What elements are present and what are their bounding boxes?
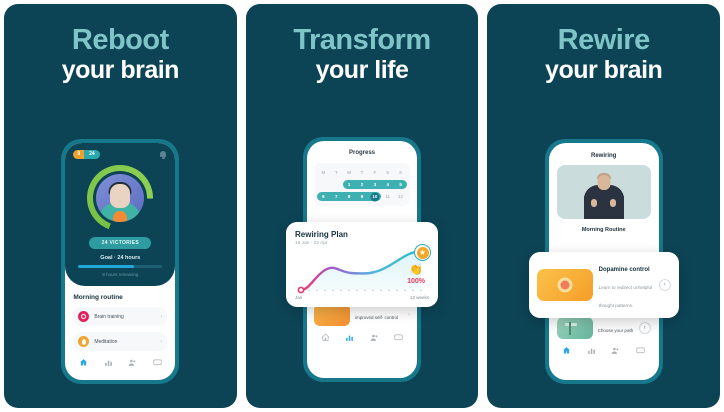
calendar-day[interactable]: 12 (394, 192, 407, 201)
lesson-thumbnail (314, 304, 350, 326)
calendar-day[interactable]: 11 (381, 192, 394, 201)
rewiring-plan-subtitle: 15 Jan - 22 Apr (295, 241, 429, 246)
hero-section: 9 24 (65, 143, 175, 286)
section-title: Morning routine (73, 294, 167, 301)
victories-badge[interactable]: 24 VICTORIES (89, 237, 151, 249)
goal-progress-fill (78, 265, 133, 268)
calendar-day-empty (317, 180, 330, 189)
calendar-week-2: 6 7 8 9 10 11 12 (317, 192, 407, 201)
tab-bar (549, 339, 659, 363)
calendar-day-today[interactable]: 10 (368, 192, 381, 201)
calendar-day[interactable]: 6 (317, 192, 330, 201)
stats-icon[interactable] (344, 333, 355, 342)
headline-2: Transform your life (246, 24, 479, 84)
lesson-text: Choose your path (598, 319, 634, 337)
home-icon[interactable] (561, 346, 572, 355)
lesson-text: improved self- control (355, 306, 403, 324)
screenshot-gallery: Reboot your brain 9 24 (0, 0, 724, 412)
calendar-day[interactable]: 8 (343, 192, 356, 201)
screen-title: Rewiring (549, 143, 659, 165)
chevron-right-icon: › (160, 314, 162, 320)
calendar: M T W T F S S 1 2 3 (314, 163, 410, 206)
goal-progress-bar (78, 265, 162, 268)
dopamine-text: Dopamine control Learn to redirect unhel… (599, 258, 653, 312)
video-hand-left (591, 199, 597, 207)
streak-badge-left: 9 (73, 150, 84, 159)
routine-section: Morning routine Brain training › Meditat… (65, 286, 175, 351)
status-row: 9 24 (73, 150, 167, 159)
clap-emoji-icon: 👏 (409, 263, 423, 276)
bell-icon[interactable] (159, 150, 167, 159)
percent-label: 100% (407, 278, 425, 285)
calendar-day-today-label: 10 (372, 194, 377, 199)
calendar-streak-segment[interactable]: 1 2 3 4 5 (343, 180, 407, 189)
list-item[interactable]: Brain training › (73, 307, 167, 326)
weekday-label: T (356, 168, 369, 177)
lesson-title: Choose your path (598, 328, 634, 333)
instructor-video[interactable] (557, 165, 651, 219)
headline-line2: your brain (4, 56, 237, 84)
weekday-label: W (343, 168, 356, 177)
avatar-collar (113, 211, 127, 222)
streak-badge-right: 24 (84, 150, 100, 159)
headline-1: Reboot your brain (4, 24, 237, 84)
phone-mockup-1: 9 24 (61, 139, 179, 384)
streak-badge[interactable]: 9 24 (73, 150, 99, 159)
home-icon[interactable] (320, 333, 331, 342)
axis-start-label: Jan (295, 295, 302, 300)
chevron-right-icon[interactable]: › (659, 279, 671, 291)
calendar-day[interactable]: 4 (381, 180, 394, 189)
chart-axis-labels: Jan 12 weeks (295, 295, 429, 300)
section-title: Morning Routine (549, 219, 659, 235)
lesson-card[interactable]: improved self- control › (314, 304, 410, 326)
lesson-card[interactable]: Choose your path › (557, 317, 651, 339)
axis-end-label: 12 weeks (410, 295, 429, 300)
remaining-text: 8 hours remaining (73, 272, 167, 277)
weekday-label: T (330, 168, 343, 177)
meditation-icon (78, 336, 89, 347)
phone-screen-1: 9 24 (65, 143, 175, 380)
calendar-day-empty (330, 180, 343, 189)
calendar-day[interactable]: 3 (368, 180, 381, 189)
list-item-label: Meditation (94, 339, 155, 345)
calendar-day[interactable]: 9 (356, 192, 369, 201)
goal-text: Goal · 24 hours (73, 255, 167, 261)
dopamine-title: Dopamine control (599, 267, 650, 273)
chevron-right-icon[interactable]: › (408, 312, 410, 318)
star-badge-icon: ★ (414, 244, 431, 261)
panel-reboot: Reboot your brain 9 24 (4, 4, 237, 408)
chevron-right-icon[interactable]: › (639, 322, 651, 334)
rewiring-plan-title: Rewiring Plan (295, 230, 429, 239)
calendar-day[interactable]: 5 (394, 180, 407, 189)
panel-rewire: Rewire your brain Rewiring Morning Routi… (487, 4, 720, 408)
brain-icon (78, 311, 89, 322)
rewiring-progress-chart: ★ 👏 100% (295, 248, 429, 294)
headline-line2: your life (246, 56, 479, 84)
headline-line2: your brain (487, 56, 720, 84)
avatar (96, 174, 144, 222)
panel-transform: Transform your life Progress M T W T F S… (246, 4, 479, 408)
chat-icon[interactable] (152, 358, 163, 367)
chat-icon[interactable] (635, 346, 646, 355)
screen-title: Progress (307, 141, 417, 163)
headline-line1: Rewire (487, 24, 720, 56)
chat-icon[interactable] (393, 333, 404, 342)
lesson-title: improved self- control (355, 315, 398, 320)
video-hand-right (610, 199, 616, 207)
dopamine-thumbnail (537, 269, 593, 301)
weekday-label: F (368, 168, 381, 177)
community-icon[interactable] (369, 333, 380, 342)
community-icon[interactable] (127, 358, 138, 367)
video-body (584, 185, 624, 219)
list-item-label: Brain training (94, 314, 155, 320)
calendar-streak-segment[interactable]: 6 7 8 9 10 (317, 192, 381, 201)
dopamine-description: Learn to redirect unhelpful thought patt… (599, 285, 652, 308)
video-head (597, 175, 610, 190)
calendar-day[interactable]: 1 (343, 180, 356, 189)
weekday-label: S (394, 168, 407, 177)
calendar-weekday-row: M T W T F S S (317, 168, 407, 177)
progress-ring (87, 165, 153, 231)
headline-3: Rewire your brain (487, 24, 720, 84)
calendar-week-1: 1 2 3 4 5 (317, 180, 407, 189)
stats-icon[interactable] (103, 358, 114, 367)
rewiring-plan-card[interactable]: Rewiring Plan 15 Jan - 22 Apr (286, 222, 438, 307)
weekday-label: M (317, 168, 330, 177)
calendar-day[interactable]: 2 (356, 180, 369, 189)
headline-line1: Reboot (4, 24, 237, 56)
tab-bar (307, 326, 417, 350)
star-glyph: ★ (417, 247, 429, 259)
dopamine-control-card[interactable]: Dopamine control Learn to redirect unhel… (529, 252, 679, 318)
chevron-right-icon: › (160, 339, 162, 345)
calendar-day[interactable]: 7 (330, 192, 343, 201)
tab-bar (65, 351, 175, 375)
headline-line1: Transform (246, 24, 479, 56)
weekday-label: S (381, 168, 394, 177)
home-icon[interactable] (78, 358, 89, 367)
list-item[interactable]: Meditation › (73, 332, 167, 351)
lesson-thumbnail (557, 317, 593, 339)
stats-icon[interactable] (586, 346, 597, 355)
avatar-head (110, 184, 130, 208)
community-icon[interactable] (610, 346, 621, 355)
